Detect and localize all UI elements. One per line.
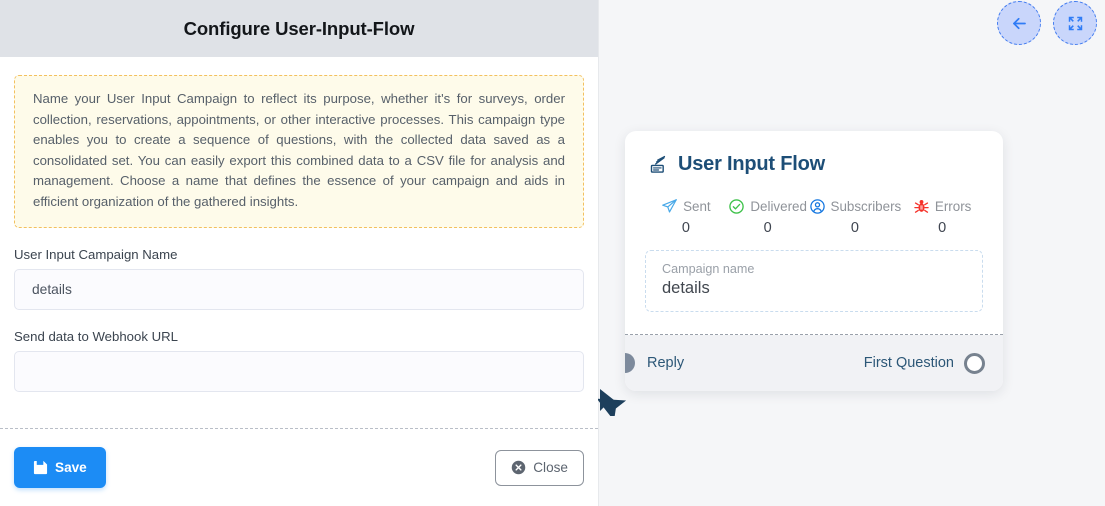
webhook-url-label: Send data to Webhook URL (14, 329, 584, 344)
reply-label: Reply (647, 355, 684, 371)
flow-node-title: User Input Flow (678, 153, 825, 176)
floppy-disk-icon (33, 460, 48, 475)
stat-delivered: Delivered 0 (727, 198, 809, 236)
flow-node-stats: Sent 0 Delivered 0 (625, 176, 1003, 236)
close-button[interactable]: Close (495, 450, 584, 486)
stat-subscribers: Subscribers 0 (809, 198, 902, 236)
stat-subscribers-head: Subscribers (809, 198, 902, 215)
close-button-label: Close (533, 460, 568, 475)
campaign-name-label: User Input Campaign Name (14, 247, 584, 262)
user-circle-icon (809, 198, 826, 215)
canvas-controls (997, 1, 1097, 45)
form-signature-icon (649, 155, 669, 175)
configure-modal-panel: Configure User-Input-Flow Name your User… (0, 0, 598, 506)
save-button[interactable]: Save (14, 447, 106, 488)
stat-errors-head: Errors (901, 198, 983, 215)
first-question-label: First Question (864, 355, 954, 371)
stat-subscribers-label: Subscribers (831, 199, 902, 214)
stat-subscribers-value: 0 (809, 220, 902, 236)
page-title: Configure User-Input-Flow (184, 18, 415, 40)
stat-errors-label: Errors (935, 199, 971, 214)
modal-footer: Save Close (0, 429, 598, 506)
stat-errors: Errors 0 (901, 198, 983, 236)
paper-plane-icon (661, 198, 678, 215)
compress-arrows-icon (1066, 14, 1085, 33)
webhook-url-input[interactable] (14, 351, 584, 392)
back-button[interactable] (997, 1, 1041, 45)
app-root: Configure User-Input-Flow Name your User… (0, 0, 1105, 506)
save-button-label: Save (55, 460, 87, 475)
modal-header: Configure User-Input-Flow (0, 0, 598, 57)
stat-sent-label: Sent (683, 199, 711, 214)
arrow-left-icon (1010, 14, 1029, 33)
check-circle-icon (728, 198, 745, 215)
stat-delivered-value: 0 (727, 220, 809, 236)
flow-node-card[interactable]: User Input Flow Sent 0 (625, 131, 1003, 391)
stat-sent-head: Sent (645, 198, 727, 215)
first-question-port: First Question (864, 353, 985, 374)
stat-sent: Sent 0 (645, 198, 727, 236)
campaign-name-input[interactable] (14, 269, 584, 310)
bug-icon (913, 198, 930, 215)
reply-connection-handle[interactable] (625, 353, 635, 373)
info-callout: Name your User Input Campaign to reflect… (14, 75, 584, 228)
stat-delivered-head: Delivered (727, 198, 809, 215)
stat-errors-value: 0 (901, 220, 983, 236)
node-campaign-name-box[interactable]: Campaign name details (645, 250, 983, 312)
stat-sent-value: 0 (645, 220, 727, 236)
flow-node-header: User Input Flow (625, 131, 1003, 176)
node-campaign-name-label: Campaign name (662, 262, 966, 276)
stat-delivered-label: Delivered (750, 199, 807, 214)
circle-x-icon (511, 460, 526, 475)
fit-view-button[interactable] (1053, 1, 1097, 45)
flow-canvas-panel: User Input Flow Sent 0 (598, 0, 1105, 506)
info-callout-text: Name your User Input Campaign to reflect… (33, 89, 565, 213)
campaign-name-field-group: User Input Campaign Name (14, 247, 584, 310)
node-campaign-name-value: details (662, 279, 966, 298)
webhook-url-field-group: Send data to Webhook URL (14, 329, 584, 392)
first-question-connection-handle[interactable] (964, 353, 985, 374)
reply-port: Reply (647, 355, 684, 371)
modal-body: Name your User Input Campaign to reflect… (0, 57, 598, 392)
flow-node-footer: Reply First Question (625, 335, 1003, 391)
